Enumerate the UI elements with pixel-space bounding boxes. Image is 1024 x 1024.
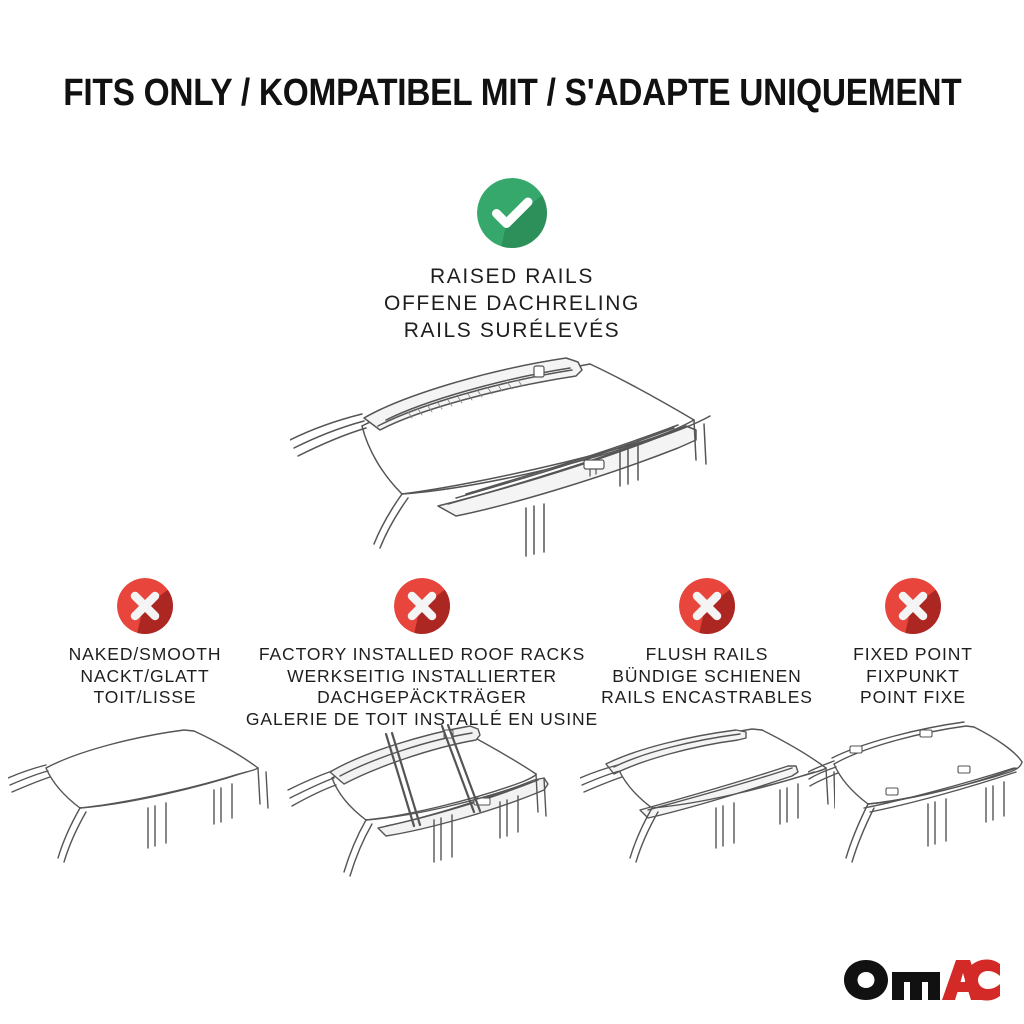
rejected-label-fr: TOIT/LISSE — [69, 687, 222, 709]
omac-logo — [842, 956, 1002, 1004]
x-circle-icon — [679, 578, 735, 634]
car-roof-raised-rails-illustration — [290, 348, 720, 563]
rejected-label-de: NACKT/GLATT — [69, 666, 222, 688]
rejected-label-en: FACTORY INSTALLED ROOF RACKS — [246, 644, 598, 666]
rejected-label-fr: RAILS ENCASTRABLES — [601, 687, 813, 709]
rejected-label-group: NAKED/SMOOTH NACKT/GLATT TOIT/LISSE — [69, 644, 222, 709]
rejected-label-de: WERKSEITIG INSTALLIERTER — [246, 666, 598, 688]
x-circle-icon — [117, 578, 173, 634]
car-roof-factory-racks-illustration — [282, 718, 562, 913]
page-title: FITS ONLY / KOMPATIBEL MIT / S'ADAPTE UN… — [63, 72, 961, 115]
rejected-label-group: FLUSH RAILS BÜNDIGE SCHIENEN RAILS ENCAS… — [601, 644, 813, 709]
rejected-label-de2: DACHGEPÄCKTRÄGER — [246, 687, 598, 709]
car-roof-fixed-point-illustration — [808, 718, 1023, 908]
approved-option: RAISED RAILS OFFENE DACHRELING RAILS SUR… — [0, 178, 1024, 344]
logo-letter-m — [892, 972, 940, 1000]
car-roof-naked-smooth-illustration — [8, 718, 273, 908]
rejected-label-group: FIXED POINT FIXPUNKT POINT FIXE — [853, 644, 973, 709]
page-header: FITS ONLY / KOMPATIBEL MIT / S'ADAPTE UN… — [0, 72, 1024, 115]
x-circle-icon — [885, 578, 941, 634]
rejected-option-naked-smooth: NAKED/SMOOTH NACKT/GLATT TOIT/LISSE — [45, 578, 245, 709]
rejected-label-fr: POINT FIXE — [853, 687, 973, 709]
x-circle-icon — [394, 578, 450, 634]
rejected-label-en: NAKED/SMOOTH — [69, 644, 222, 666]
rejected-option-factory-racks: FACTORY INSTALLED ROOF RACKS WERKSEITIG … — [262, 578, 582, 730]
approved-label-de: OFFENE DACHRELING — [384, 290, 640, 317]
rejected-label-en: FLUSH RAILS — [601, 644, 813, 666]
rejected-option-flush-rails: FLUSH RAILS BÜNDIGE SCHIENEN RAILS ENCAS… — [592, 578, 822, 709]
rejected-options-row: NAKED/SMOOTH NACKT/GLATT TOIT/LISSE FACT… — [0, 578, 1024, 708]
approved-label-fr: RAILS SURÉLEVÉS — [384, 317, 640, 344]
check-circle-icon — [477, 178, 547, 248]
car-roof-flush-rails-illustration — [580, 718, 835, 908]
rejected-label-de: FIXPUNKT — [853, 666, 973, 688]
logo-letter-o — [844, 960, 888, 1000]
rejected-option-fixed-point: FIXED POINT FIXPUNKT POINT FIXE — [833, 578, 993, 709]
rejected-label-de: BÜNDIGE SCHIENEN — [601, 666, 813, 688]
rejected-label-en: FIXED POINT — [853, 644, 973, 666]
approved-label-en: RAISED RAILS — [384, 263, 640, 290]
approved-label-group: RAISED RAILS OFFENE DACHRELING RAILS SUR… — [384, 263, 640, 344]
